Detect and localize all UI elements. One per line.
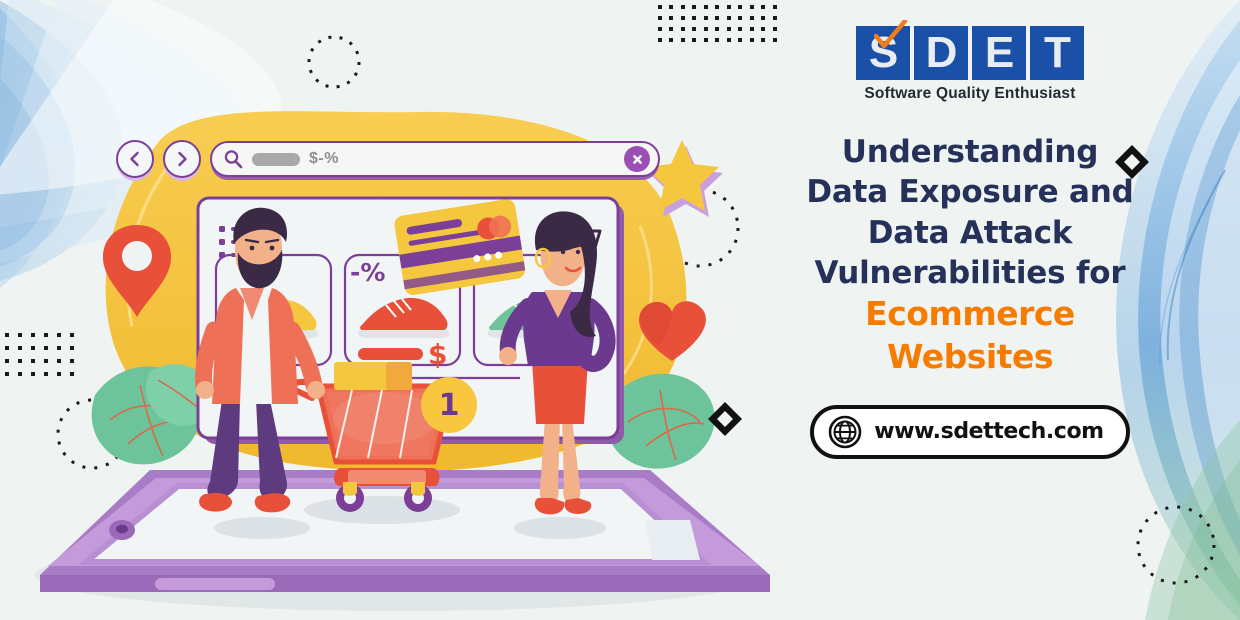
close-x-icon <box>631 153 644 166</box>
tablet-device <box>40 470 770 592</box>
content-panel: S D E T Software Quality Enthusiast Unde… <box>790 0 1150 620</box>
headline-line-2: Data Exposure and <box>790 172 1150 212</box>
logo-letter-t: T <box>1044 31 1070 75</box>
logo-tile-d: D <box>914 26 968 80</box>
banner-root: $-% 1 -% $ S <box>0 0 1240 620</box>
foliage-left <box>92 364 213 464</box>
website-url-text: www.sdettech.com <box>874 419 1103 444</box>
price-currency-icon: $ <box>428 338 447 371</box>
logo-letter-d: D <box>926 31 957 75</box>
globe-icon <box>828 415 862 449</box>
headline-accent-1: Ecommerce <box>790 293 1150 336</box>
headline-line-4: Vulnerabilities for <box>790 253 1150 293</box>
search-input[interactable]: $-% <box>210 141 660 177</box>
search-placeholder-pill <box>252 153 300 166</box>
cart-quantity-value: 1 <box>439 388 460 423</box>
ecommerce-illustration <box>0 0 800 620</box>
magnifier-icon <box>223 149 243 169</box>
browser-search-bar[interactable]: $-% <box>116 140 660 178</box>
diamond-outline-icon-right <box>1113 143 1151 186</box>
logo-letter-e: E <box>985 31 1013 75</box>
chevron-left-icon <box>127 151 143 167</box>
diamond-outline-icon-center <box>706 400 744 443</box>
check-mark-icon <box>874 20 908 50</box>
discount-label: -% <box>350 258 385 287</box>
sdet-logo[interactable]: S D E T Software Quality Enthusiast <box>854 26 1086 108</box>
headline-line-3: Data Attack <box>790 213 1150 253</box>
logo-tile-e: E <box>972 26 1026 80</box>
website-url-badge[interactable]: www.sdettech.com <box>810 405 1129 459</box>
forward-button[interactable] <box>163 140 201 178</box>
back-button[interactable] <box>116 140 154 178</box>
home-button <box>155 578 275 590</box>
chevron-right-icon <box>174 151 190 167</box>
headline-line-1: Understanding <box>790 132 1150 172</box>
cart-quantity-badge: 1 <box>421 377 477 433</box>
logo-tile-t: T <box>1030 26 1084 80</box>
search-clear-button[interactable] <box>624 146 650 172</box>
headline-block: Understanding Data Exposure and Data Att… <box>790 132 1150 379</box>
logo-tagline: Software Quality Enthusiast <box>854 85 1086 103</box>
headline-accent-2: Websites <box>790 336 1150 379</box>
search-query-text: $-% <box>309 150 339 168</box>
